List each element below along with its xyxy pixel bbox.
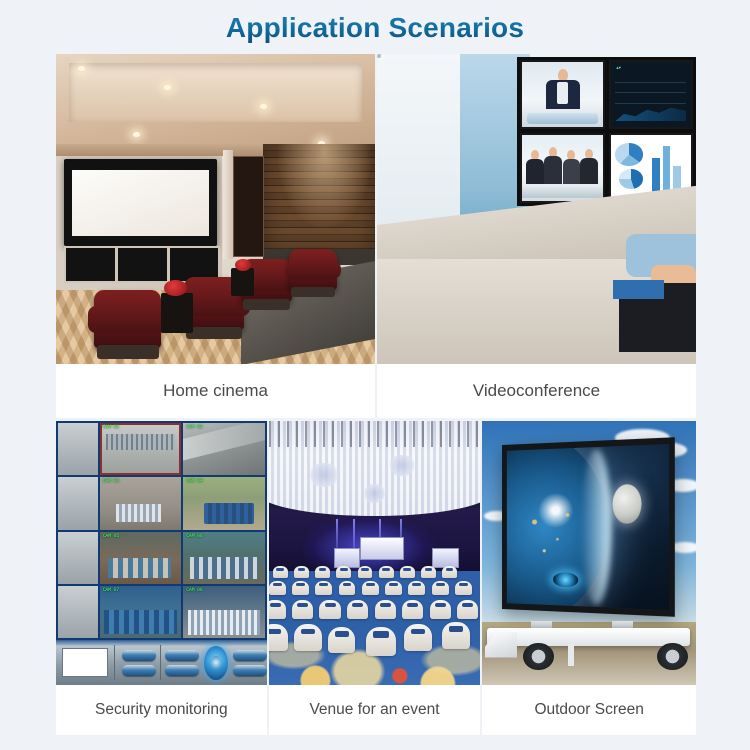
scenario-card-venue-for-an-event[interactable]: Venue for an event (267, 421, 481, 735)
chair-rows (269, 564, 481, 685)
camera-timestamp: CAM 06 (186, 533, 202, 539)
camera-tile-gate: CAM 01 (100, 423, 181, 475)
camera-tile-edge (58, 586, 98, 638)
camera-tile-edge (58, 477, 98, 529)
dvr-button[interactable] (165, 650, 199, 661)
camera-timestamp: CAM 08 (186, 587, 202, 593)
trailer (487, 616, 690, 669)
application-scenarios-page: Application Scenarios (0, 0, 750, 750)
page-title: Application Scenarios (0, 12, 750, 44)
dvr-button[interactable] (233, 665, 267, 676)
scenario-caption-outdoor-screen: Outdoor Screen (482, 685, 696, 735)
camera-tile-shopfloor: CAM 05 (100, 532, 181, 584)
videoconference-image: ▲▼ (377, 54, 696, 364)
scenario-card-outdoor-screen[interactable]: Outdoor Screen (480, 421, 696, 735)
scenario-caption-videoconference: Videoconference (377, 364, 696, 418)
dvr-control-panel (56, 640, 267, 685)
camera-timestamp: CAM 02 (186, 424, 202, 430)
scenario-row-top: Home cinema (56, 54, 696, 418)
camera-timestamp: CAM 01 (103, 424, 119, 430)
security-monitoring-image: CAM 01 CAM 02 CAM 03 CAM 04 (56, 421, 267, 685)
camera-tile-edge (58, 423, 98, 475)
video-panel-presenter (520, 60, 604, 129)
scenario-row-bottom: CAM 01 CAM 02 CAM 03 CAM 04 (56, 421, 696, 735)
scenario-grid: Home cinema (56, 54, 696, 735)
dvr-button[interactable] (233, 650, 267, 661)
scenario-card-home-cinema[interactable]: Home cinema (56, 54, 375, 418)
dvr-button-group-left[interactable] (122, 650, 156, 676)
camera-timestamp: CAM 07 (103, 587, 119, 593)
video-panel-stock: ▲▼ (609, 60, 693, 129)
dvr-display (62, 648, 107, 678)
dvr-button[interactable] (122, 665, 156, 676)
scenario-caption-venue-for-an-event: Venue for an event (269, 685, 481, 735)
dvr-button-group-mid[interactable] (165, 650, 199, 676)
cctv-grid: CAM 01 CAM 02 CAM 03 CAM 04 (56, 421, 267, 640)
home-cinema-image (56, 54, 375, 364)
outdoor-screen-image (482, 421, 696, 685)
scenario-caption-security-monitoring: Security monitoring (56, 685, 267, 735)
dvr-button[interactable] (122, 650, 156, 661)
camera-tile-workers: CAM 07 (100, 586, 181, 638)
camera-tile-warehouse: CAM 06 (183, 532, 264, 584)
camera-timestamp: CAM 05 (103, 533, 119, 539)
camera-tile-stack: CAM 03 (100, 477, 181, 529)
moon-graphic (612, 484, 641, 523)
camera-timestamp: CAM 04 (186, 478, 202, 484)
video-panel-group (520, 133, 604, 202)
probe-graphic (552, 572, 577, 587)
video-wall: ▲▼ (517, 57, 696, 206)
camera-tile-barrels: CAM 04 (183, 477, 264, 529)
camera-tile-pallets: CAM 08 (183, 586, 264, 638)
scenario-card-security-monitoring[interactable]: CAM 01 CAM 02 CAM 03 CAM 04 (56, 421, 267, 735)
dvr-jog-dial[interactable] (204, 646, 227, 680)
scenario-caption-home-cinema: Home cinema (56, 364, 375, 418)
dvr-button-group-right[interactable] (233, 650, 267, 676)
scenario-card-videoconference[interactable]: ▲▼ (375, 54, 696, 418)
camera-tile-road: CAM 02 (183, 423, 264, 475)
venue-image (269, 421, 481, 685)
led-screen (502, 437, 675, 616)
camera-tile-edge (58, 532, 98, 584)
dvr-button[interactable] (165, 665, 199, 676)
camera-timestamp: CAM 03 (103, 478, 119, 484)
